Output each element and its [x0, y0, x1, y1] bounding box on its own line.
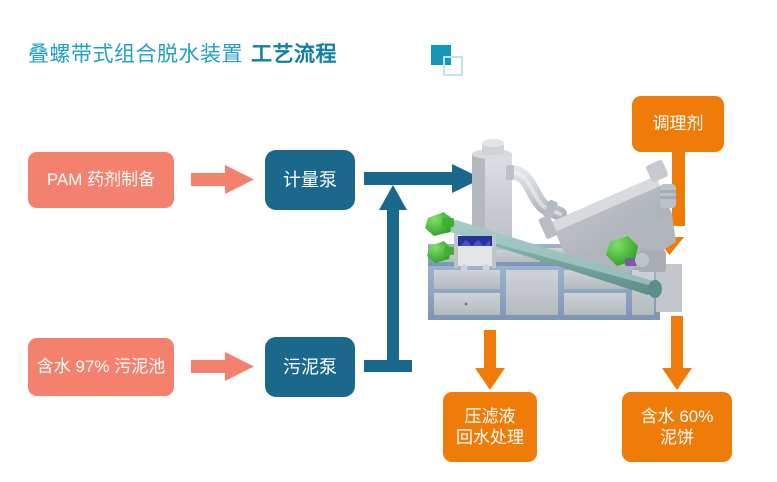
- node-metering-pump[interactable]: 计量泵: [265, 150, 355, 210]
- node-mud-cake-output[interactable]: 含水 60% 泥饼: [622, 392, 732, 462]
- flow-pump-to-machine: [364, 185, 412, 372]
- node-sludge-pool-label: 含水 97% 污泥池: [37, 356, 165, 377]
- machine-valve-left-icon: [425, 212, 454, 236]
- machine-control-unit: [454, 234, 496, 272]
- machine-motor-right: [635, 250, 666, 272]
- node-pam-label: PAM 药剂制备: [47, 169, 155, 190]
- node-metering-pump-label: 计量泵: [283, 169, 337, 192]
- flow-machine-to-filtrate: [475, 330, 505, 390]
- machine-connecting-pipe: [506, 165, 560, 219]
- node-cake-label-line2: 泥饼: [641, 427, 714, 448]
- diagram-canvas: 叠螺带式组合脱水装置工艺流程: [0, 0, 777, 482]
- node-sludge-pool[interactable]: 含水 97% 污泥池: [28, 338, 174, 396]
- node-filtrate-label-line2: 回水处理: [456, 427, 524, 448]
- node-conditioning-agent-label: 调理剂: [653, 113, 704, 134]
- node-filtrate-label-line1: 压滤液: [456, 406, 524, 427]
- node-filtrate-return-treatment[interactable]: 压滤液 回水处理: [443, 392, 537, 462]
- node-sludge-pump-label: 污泥泵: [283, 356, 337, 379]
- node-pam-reagent-prep[interactable]: PAM 药剂制备: [28, 152, 174, 208]
- node-conditioning-agent[interactable]: 调理剂: [632, 96, 724, 152]
- dewatering-machine-illustration: [420, 138, 690, 328]
- node-cake-label-line1: 含水 60%: [641, 406, 714, 427]
- flow-sludge-to-pump: [191, 352, 254, 381]
- node-sludge-pump[interactable]: 污泥泵: [265, 337, 355, 397]
- flow-pam-to-meter: [191, 165, 254, 194]
